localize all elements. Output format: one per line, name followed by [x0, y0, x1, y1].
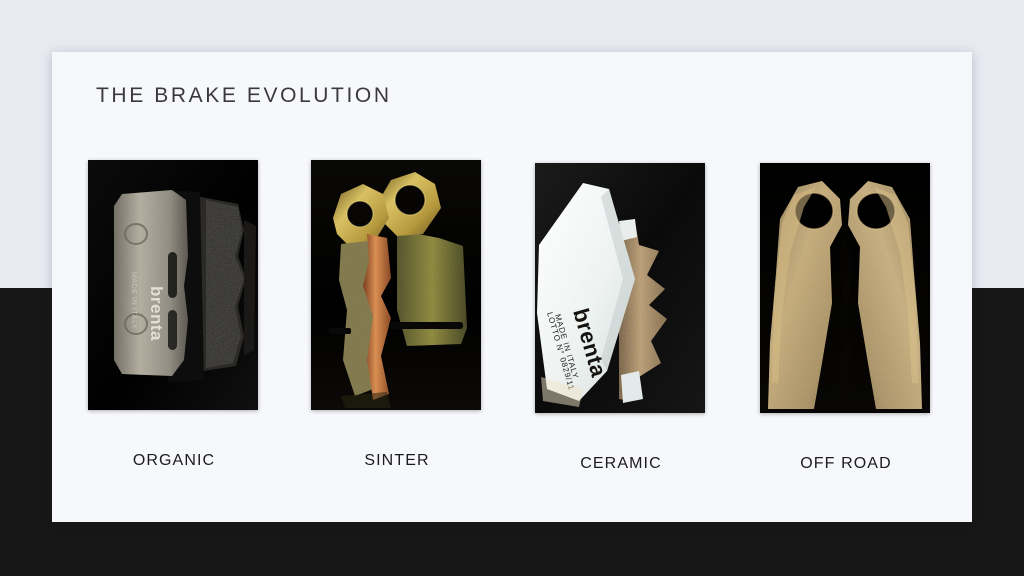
- product-row: brenta MADE IN ITALY ORGANIC: [52, 160, 972, 465]
- sinter-brake-pad-photo[interactable]: [311, 160, 481, 410]
- content-card: THE BRAKE EVOLUTION: [52, 52, 972, 522]
- slide-canvas: THE BRAKE EVOLUTION: [0, 0, 1024, 576]
- svg-text:brenta: brenta: [147, 286, 166, 341]
- page-title: THE BRAKE EVOLUTION: [96, 84, 392, 108]
- product-item-ceramic[interactable]: brenta LOTTO N° 0829/11 MADE IN ITALY CE…: [535, 160, 707, 413]
- product-label-organic: ORGANIC: [88, 452, 260, 470]
- product-label-sinter: SINTER: [311, 452, 483, 470]
- product-item-offroad[interactable]: OFF ROAD: [760, 160, 932, 413]
- svg-text:MADE IN ITALY: MADE IN ITALY: [130, 272, 137, 329]
- product-item-organic[interactable]: brenta MADE IN ITALY ORGANIC: [88, 160, 260, 410]
- product-label-offroad: OFF ROAD: [760, 455, 932, 473]
- product-item-sinter[interactable]: SINTER: [311, 160, 483, 410]
- product-label-ceramic: CERAMIC: [535, 455, 707, 473]
- ceramic-brake-pad-photo[interactable]: brenta LOTTO N° 0829/11 MADE IN ITALY: [535, 163, 705, 413]
- organic-brake-pad-photo[interactable]: brenta MADE IN ITALY: [88, 160, 258, 410]
- off-road-brake-pad-photo[interactable]: [760, 163, 930, 413]
